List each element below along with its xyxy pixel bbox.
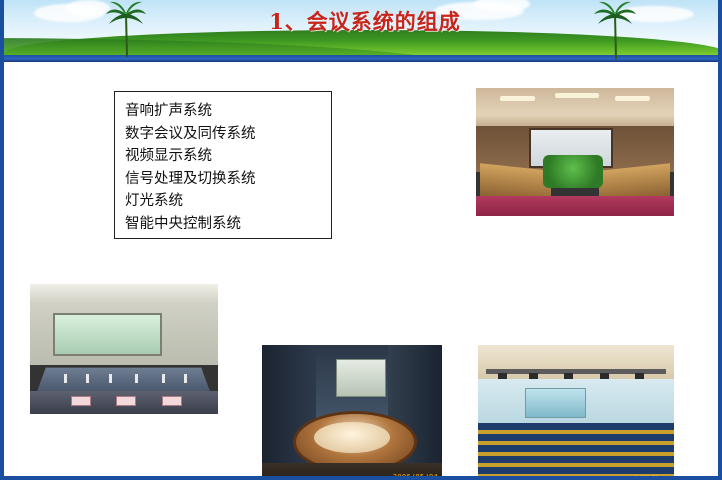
list-item: 数字会议及同传系统 [125,123,331,146]
list-item: 信号处理及切换系统 [125,168,331,191]
slide-body: 音响扩声系统 数字会议及同传系统 视频显示系统 信号处理及切换系统 灯光系统 智… [4,62,722,480]
photo-boardroom-with-plants [476,88,674,216]
photo-long-table-room [30,284,218,414]
photo-timestamp: 4:11:51 pm [634,475,670,480]
list-item: 智能中央控制系统 [125,213,331,236]
list-item: 灯光系统 [125,190,331,213]
page-title: 1、会议系统的组成 [4,6,722,36]
photo-auditorium: 4:11:51 pm [478,345,674,480]
list-item: 视频显示系统 [125,145,331,168]
photo-round-table-room: 2006/05/04 [262,345,442,480]
photo-timestamp: 2006/05/04 [393,473,438,480]
slide-root: 1、会议系统的组成 音响扩声系统 数字会议及同传系统 视频显示系统 信号处理及切… [0,0,722,480]
list-item: 音响扩声系统 [125,100,331,123]
system-components-textbox: 音响扩声系统 数字会议及同传系统 视频显示系统 信号处理及切换系统 灯光系统 智… [114,91,332,239]
slide-header-banner: 1、会议系统的组成 [4,0,722,62]
